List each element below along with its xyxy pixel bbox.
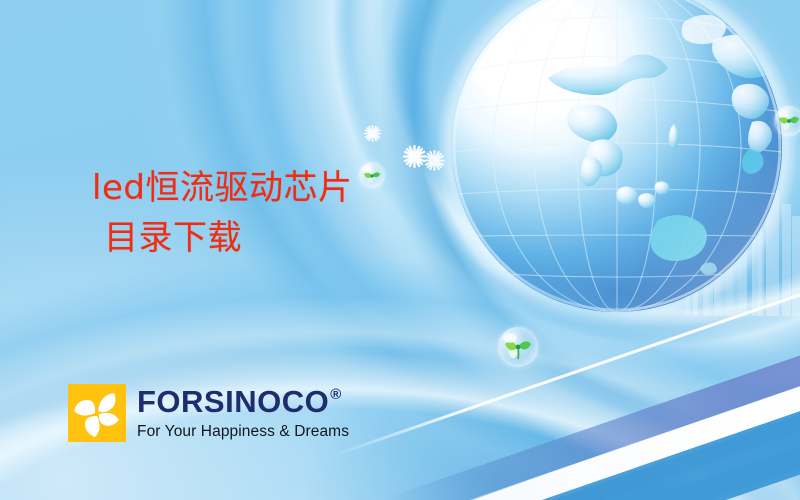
earth-globe-icon <box>452 0 782 312</box>
globe-sphere <box>452 0 782 312</box>
registered-trademark-icon: ® <box>330 387 342 402</box>
four-petal-pinwheel-icon <box>68 384 126 442</box>
brand-name: FORSINOCO ® <box>137 386 349 417</box>
brand-name-text: FORSINOCO <box>137 386 329 417</box>
bubble-with-green-sprout-icon <box>774 106 800 136</box>
headline-line-1: led恒流驱动芯片 <box>92 168 352 208</box>
bubble-with-green-sprout-icon <box>498 327 538 367</box>
bubble-with-green-sprout-icon <box>359 162 385 188</box>
brand-wordmark: FORSINOCO ® For Your Happiness & Dreams <box>137 386 349 440</box>
headline-line-2: 目录下载 <box>92 213 352 263</box>
brand-logo: FORSINOCO ® For Your Happiness & Dreams <box>68 384 349 442</box>
brand-tagline: For Your Happiness & Dreams <box>137 424 349 440</box>
promo-banner: led恒流驱动芯片 目录下载 FORSINOCO ® For Your Happ… <box>0 0 800 500</box>
page-title: led恒流驱动芯片 目录下载 <box>92 163 352 264</box>
